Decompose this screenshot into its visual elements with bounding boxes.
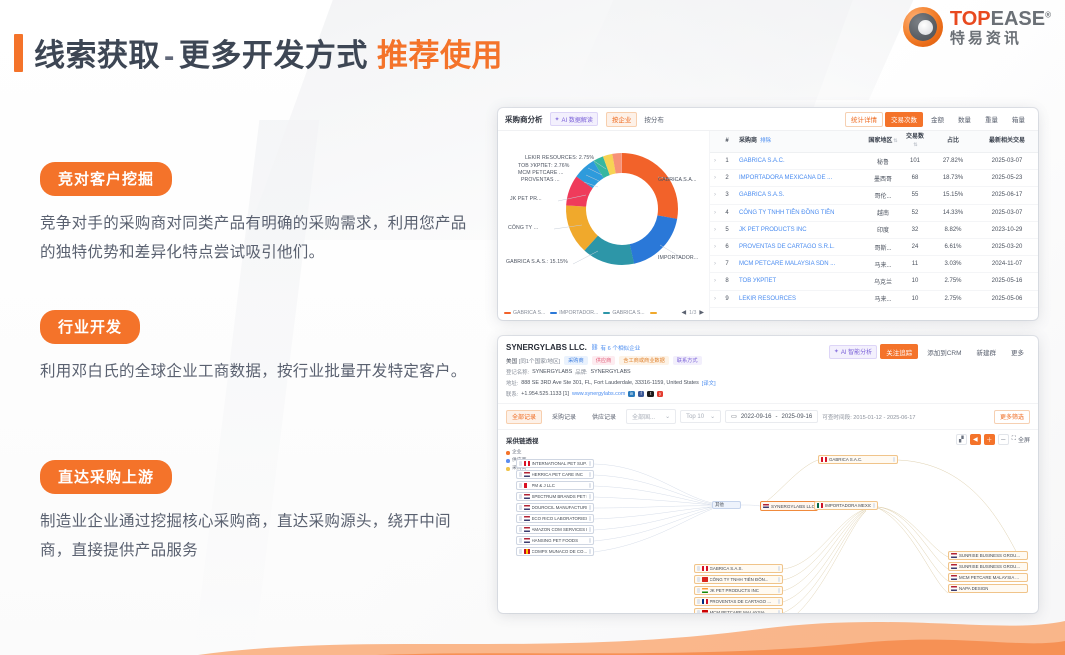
node-expand-handle[interactable] xyxy=(589,516,592,521)
link-chain-icon: ⛓ xyxy=(591,344,599,351)
graph-zoom-out-icon[interactable]: － xyxy=(998,434,1009,445)
graph-node-supplier[interactable]: AMAZON COM SERVICES L... xyxy=(516,525,594,534)
brand-label: 品牌: xyxy=(575,368,587,376)
cell-country: 墨西哥 xyxy=(866,170,900,187)
cell-latest-deal: 2024-11-07 xyxy=(976,256,1038,273)
graph-node-buyer-mid[interactable]: IMPORTADORA MEXICANA ... xyxy=(814,501,878,510)
cell-deals: 101 xyxy=(900,153,930,170)
facebook-icon[interactable]: f xyxy=(638,391,645,398)
graph-node-label: SUNRISE BUSINESS GROU... xyxy=(959,564,1020,569)
feature-block-competitor: 竞对客户挖掘 竞争对手的采购商对同类产品有明确的采购需求，利用您产品的独特优势和… xyxy=(40,162,480,267)
th-index: # xyxy=(720,131,734,153)
chip-business-data[interactable]: 含工商或商业数据 xyxy=(619,356,669,365)
table-row[interactable]: ›8TOB УКРПЕТ乌克兰102.75%2025-05-16 xyxy=(710,273,1038,290)
country-filter-value: 全部国... xyxy=(632,412,655,421)
legend-swatch xyxy=(550,312,557,314)
flag-icon xyxy=(951,586,957,591)
graph-node-label: SUNRISE BUSINESS GROU... xyxy=(959,553,1020,558)
flag-icon xyxy=(821,457,827,462)
graph-fullscreen-button[interactable]: ⛶ 全屏 xyxy=(1012,435,1030,444)
node-collapse-handle[interactable] xyxy=(519,505,522,510)
calendar-icon: ▭ xyxy=(731,413,737,420)
country-note: [同1个国家/地区] xyxy=(519,359,560,365)
node-collapse-handle[interactable] xyxy=(697,599,700,604)
topn-filter-value: Top 10 xyxy=(686,414,704,420)
feature-pill: 直达采购上游 xyxy=(40,460,172,494)
node-expand-handle[interactable] xyxy=(778,599,781,604)
purchaser-table-panel: # 采购商排除 国家地区⇅ 交易数⇅ 占比 最新相关交易 xyxy=(710,131,1038,320)
cell-deals: 68 xyxy=(900,170,930,187)
graph-node-other[interactable]: 其他 xyxy=(712,501,741,509)
page-title: 线索获取-更多开发方式 推荐使用 xyxy=(14,30,503,75)
cell-index: 4 xyxy=(720,204,734,221)
graph-node-label: INTERNATIONAL PET SUP... xyxy=(532,461,587,466)
graph-node-label: CÔNG TY TNHH TIÊN ĐỒN... xyxy=(710,577,769,582)
node-expand-handle[interactable] xyxy=(589,527,592,532)
supply-chain-graph-header: 采供链透视 ▞ ◀ ＋ － ⛶ 全屏 xyxy=(498,430,1038,445)
purchaser-analysis-toolbar: 采购商分析 ✦ AI 数据解读 按企业 按分布 统计详情 交易次数 金额 数量 … xyxy=(498,108,1038,131)
cell-deals: 55 xyxy=(900,187,930,204)
table-row[interactable]: ›3GABRICA S.A.S.哥伦...5515.15%2025-06-17 xyxy=(710,187,1038,204)
graph-node-label: HANSING PET FOODS xyxy=(532,538,579,543)
graph-node-label: PROVENTAS DE CARTAGO ... xyxy=(710,599,771,604)
youtube-icon[interactable]: y xyxy=(657,391,664,398)
node-collapse-handle[interactable] xyxy=(519,516,522,521)
legend-item[interactable] xyxy=(650,312,657,314)
graph-title: 采供链透视 xyxy=(506,435,539,445)
th-purchaser-label: 采购商 xyxy=(739,138,757,144)
cell-latest-deal: 2025-03-20 xyxy=(976,238,1038,255)
graph-node-label: SPECTRUM BRANDS PET L... xyxy=(532,494,587,499)
metric-amount-button[interactable]: 金额 xyxy=(925,112,950,127)
graph-prev-icon[interactable]: ◀ xyxy=(970,434,981,445)
legend-item[interactable]: IMPORTADOR... xyxy=(550,310,598,316)
graph-node-label: IMPORTADORA MEXICANA ... xyxy=(825,503,871,508)
legend-label: GABRICA S... xyxy=(612,310,644,316)
flag-icon xyxy=(702,577,708,582)
add-to-crm-button[interactable]: 添加到CRM xyxy=(921,344,967,359)
flag-icon xyxy=(763,504,769,509)
table-row[interactable]: ›5JK PET PRODUCTS INC印度328.82%2023-10-29 xyxy=(710,221,1038,238)
cell-share: 2.75% xyxy=(930,290,976,307)
metric-deal-count-button[interactable]: 交易次数 xyxy=(885,112,923,127)
cell-purchaser-name[interactable]: PROVENTAS DE CARTAGO S.R.L. xyxy=(734,238,866,255)
node-expand-handle[interactable] xyxy=(589,538,592,543)
feature-body: 制造业企业通过挖掘核心采购商，直达采购源头，绕开中间商，直接提供产品服务 xyxy=(40,508,480,565)
node-collapse-handle[interactable] xyxy=(519,527,522,532)
phone-value: +1.954.525.1133 [1] xyxy=(521,391,569,397)
flag-icon xyxy=(702,610,708,613)
more-filters-button[interactable]: 更多筛选 xyxy=(994,410,1030,424)
purchaser-analysis-title: 采购商分析 xyxy=(505,114,543,125)
legend-next-icon[interactable]: ▶ xyxy=(699,309,704,316)
flag-icon xyxy=(524,538,530,543)
graph-node-label: NAPA DESIGN xyxy=(959,586,988,591)
country-filter-select[interactable]: 全部国... ⌄ xyxy=(626,409,676,424)
cell-share: 8.82% xyxy=(930,221,976,238)
cell-latest-deal: 2025-05-06 xyxy=(976,290,1038,307)
cell-deals: 10 xyxy=(900,273,930,290)
legend-item[interactable]: GABRICA S... xyxy=(603,310,644,316)
company-header: SYNERGYLABS LLC. ⛓ 有 6 个相似企业 美国 [同1个国家/地… xyxy=(498,336,1038,404)
cell-latest-deal: 2025-03-07 xyxy=(976,153,1038,170)
graph-node-related[interactable]: SUNRISE BUSINESS GROU... xyxy=(948,562,1028,571)
sort-icon[interactable]: ⇅ xyxy=(913,142,917,148)
country-name: 美国 xyxy=(506,359,517,365)
table-row[interactable]: ›6PROVENTAS DE CARTAGO S.R.L.哥斯...246.61… xyxy=(710,238,1038,255)
registered-name-label: 登记名称: xyxy=(506,368,529,376)
node-collapse-handle[interactable] xyxy=(697,566,700,571)
row-expand-icon[interactable]: › xyxy=(710,238,720,255)
flag-icon xyxy=(524,483,530,488)
graph-node-buyer[interactable]: MCM PETCARE MALAYSIA ... xyxy=(694,608,783,613)
cell-latest-deal: 2025-06-17 xyxy=(976,187,1038,204)
brand-value: SYNERGYLABS xyxy=(591,369,631,375)
cell-share: 14.33% xyxy=(930,204,976,221)
title-main: 线索获取 xyxy=(34,38,160,73)
graph-node-label: GABRICA S.A.C. xyxy=(829,457,862,462)
topease-logo: TOPEASE® 特易资讯 xyxy=(903,7,1051,47)
node-expand-handle[interactable] xyxy=(589,494,592,499)
flag-icon xyxy=(524,472,530,477)
metric-weight-button[interactable]: 重量 xyxy=(979,112,1004,127)
graph-chart-icon[interactable]: ▞ xyxy=(956,434,967,445)
table-row[interactable]: ›2IMPORTADORA MEXICANA DE ...墨西哥6818.73%… xyxy=(710,170,1038,187)
translate-link[interactable]: [译文] xyxy=(702,379,716,387)
chip-purchaser[interactable]: 采购商 xyxy=(564,356,588,365)
registered-name-value: SYNERGYLABS xyxy=(532,369,572,375)
logo-mark-icon xyxy=(903,7,943,47)
new-group-button[interactable]: 新建群 xyxy=(971,344,1003,359)
cell-country: 马来... xyxy=(866,256,900,273)
view-mode-tabs: 按企业 按分布 xyxy=(606,112,670,127)
cell-deals: 10 xyxy=(900,290,930,307)
th-purchaser: 采购商排除 xyxy=(734,131,866,153)
flag-icon xyxy=(702,588,708,593)
date-end: 2025-09-16 xyxy=(782,414,813,420)
graph-node-label: SYNERGYLABS LLC. xyxy=(771,504,815,509)
graph-node-supplier[interactable]: HANSING PET FOODS xyxy=(516,536,594,545)
linkedin-icon[interactable]: in xyxy=(628,391,635,398)
graph-node-supplier[interactable]: DOUROCIL MANUFACTURING... xyxy=(516,503,594,512)
legend-page-indicator: 1/3 xyxy=(689,310,696,316)
node-collapse-handle[interactable] xyxy=(519,461,522,466)
feature-pill: 行业开发 xyxy=(40,310,140,344)
cell-purchaser-name[interactable]: MCM PETCARE MALAYSIA SDN ... xyxy=(734,256,866,273)
graph-node-label: HERRICA PET CARE INC xyxy=(532,472,583,477)
legend-label: GABRICA S... xyxy=(513,310,545,316)
flag-icon xyxy=(817,503,823,508)
node-collapse-handle[interactable] xyxy=(697,577,700,582)
graph-node-label: MCM PETCARE MALAYSIA ... xyxy=(710,610,770,613)
follow-track-button[interactable]: 关注追踪 xyxy=(880,344,918,359)
legend-label: IMPORTADOR... xyxy=(559,310,598,316)
graph-node-supplier[interactable]: ECO RICO LABORATORIES... xyxy=(516,514,594,523)
graph-node-label: JK PET PRODUCTS INC xyxy=(710,588,759,593)
chip-contact[interactable]: 联系方式 xyxy=(673,356,702,365)
fullscreen-label: 全屏 xyxy=(1018,435,1030,444)
filter-tab-all-records[interactable]: 全部记录 xyxy=(506,410,542,424)
cell-index: 3 xyxy=(720,187,734,204)
graph-node-center-company[interactable]: SYNERGYLABS LLC. xyxy=(760,501,818,511)
graph-node-supplier[interactable]: HERRICA PET CARE INC xyxy=(516,470,594,479)
node-expand-handle[interactable] xyxy=(589,549,592,554)
cell-latest-deal: 2023-10-29 xyxy=(976,221,1038,238)
cell-share: 18.73% xyxy=(930,170,976,187)
ai-analysis-label: AI 智能分析 xyxy=(841,347,872,356)
th-deals-label: 交易数 xyxy=(906,134,924,140)
node-collapse-handle[interactable] xyxy=(697,588,700,593)
cell-purchaser-name[interactable]: JK PET PRODUCTS INC xyxy=(734,221,866,238)
stats-detail-button[interactable]: 统计详情 xyxy=(845,112,883,127)
fullscreen-icon: ⛶ xyxy=(1012,436,1016,443)
company-country: 美国 [同1个国家/地区] xyxy=(506,357,560,365)
cell-country: 哥斯... xyxy=(866,238,900,255)
cell-deals: 52 xyxy=(900,204,930,221)
cell-country: 越南 xyxy=(866,204,900,221)
feature-pill: 竞对客户挖掘 xyxy=(40,162,172,196)
ai-data-insight-button[interactable]: ✦ AI 数据解读 xyxy=(550,112,598,126)
feature-body: 竞争对手的采购商对同类产品有明确的采购需求，利用您产品的独特优势和差异化特点尝试… xyxy=(40,210,480,267)
tab-by-company[interactable]: 按企业 xyxy=(606,112,638,127)
flag-icon xyxy=(951,564,957,569)
graph-node-buyer[interactable]: JK PET PRODUCTS INC xyxy=(694,586,783,595)
graph-node-label: COMPX MUNACO DE CO... xyxy=(532,549,587,554)
node-collapse-handle[interactable] xyxy=(519,494,522,499)
flag-icon xyxy=(951,553,957,558)
cell-index: 2 xyxy=(720,170,734,187)
graph-node-buyer[interactable]: CÔNG TY TNHH TIÊN ĐỒN... xyxy=(694,575,783,584)
th-country-label: 国家地区 xyxy=(868,138,892,144)
cell-purchaser-name[interactable]: IMPORTADORA MEXICANA DE ... xyxy=(734,170,866,187)
cell-share: 27.82% xyxy=(930,153,976,170)
logo-chinese: 特易资讯 xyxy=(950,31,1051,46)
sparkle-icon: ✦ xyxy=(555,116,560,123)
th-expand xyxy=(710,131,720,153)
supply-chain-graph[interactable]: 企业 供应商 采购商 xyxy=(498,447,1038,613)
topn-filter-select[interactable]: Top 10 ⌄ xyxy=(680,410,721,423)
company-name: SYNERGYLABS LLC. xyxy=(506,343,587,352)
cell-purchaser-name[interactable]: GABRICA S.A.S. xyxy=(734,187,866,204)
chevron-down-icon: ⌄ xyxy=(710,413,715,420)
cell-country: 乌克兰 xyxy=(866,273,900,290)
graph-node-label: MCM PETCARE MALAYSIA ... xyxy=(959,575,1019,580)
cell-latest-deal: 2025-05-16 xyxy=(976,273,1038,290)
cell-share: 3.03% xyxy=(930,256,976,273)
graph-node-label: 其他 xyxy=(715,502,724,508)
similar-companies-label: 有 6 个相似企业 xyxy=(601,344,641,352)
filter-tab-supply-records[interactable]: 供应记录 xyxy=(586,410,622,424)
th-country: 国家地区⇅ xyxy=(866,131,900,153)
chart-legend: GABRICA S... IMPORTADOR... GABRICA S... xyxy=(498,309,710,316)
th-share: 占比 xyxy=(930,131,976,153)
metric-quantity-button[interactable]: 数量 xyxy=(952,112,977,127)
chevron-down-icon: ⌄ xyxy=(665,413,670,420)
record-filter-bar: 全部记录 采购记录 供应记录 全部国... ⌄ Top 10 ⌄ ▭ 2022-… xyxy=(498,404,1038,430)
ai-analysis-button[interactable]: ✦ AI 智能分析 xyxy=(829,345,877,359)
cell-country: 印度 xyxy=(866,221,900,238)
node-collapse-handle[interactable] xyxy=(519,549,522,554)
graph-node-label: DOUROCIL MANUFACTURING... xyxy=(532,505,587,510)
graph-node-supplier[interactable]: PM & J LLC xyxy=(516,481,594,490)
node-expand-handle[interactable] xyxy=(778,588,781,593)
logo-top: TOP xyxy=(950,8,991,30)
title-accent-bar xyxy=(14,34,23,72)
address-label: 地址: xyxy=(506,379,518,387)
flag-icon xyxy=(702,599,708,604)
row-expand-icon[interactable]: › xyxy=(710,273,720,290)
address-value: 888 SE 3RD Ave Ste 301, FL, Fort Lauderd… xyxy=(521,380,699,386)
cell-deals: 24 xyxy=(900,238,930,255)
cell-country: 秘鲁 xyxy=(866,153,900,170)
graph-node-label: PM & J LLC xyxy=(532,483,555,488)
cell-share: 2.75% xyxy=(930,273,976,290)
table-row[interactable]: ›7MCM PETCARE MALAYSIA SDN ...马来...113.0… xyxy=(710,256,1038,273)
title-dash: - xyxy=(164,38,175,73)
node-expand-handle[interactable] xyxy=(589,472,592,477)
title-sub: 更多开发方式 xyxy=(179,38,368,73)
metric-button-group: 统计详情 交易次数 金额 数量 重量 箱量 xyxy=(845,112,1031,127)
company-action-buttons: ✦ AI 智能分析 关注追踪 添加到CRM 新建群 更多 xyxy=(829,344,1030,359)
flag-icon xyxy=(702,566,708,571)
flag-icon xyxy=(524,527,530,532)
node-expand-handle[interactable] xyxy=(589,483,592,488)
date-range-picker[interactable]: ▭ 2022-09-16 - 2025-09-16 xyxy=(725,410,818,423)
legend-item[interactable]: GABRICA S... xyxy=(504,310,545,316)
row-expand-icon[interactable]: › xyxy=(710,170,720,187)
cell-purchaser-name[interactable]: CÔNG TY TNHH TIÊN ĐỒNG TIÊN xyxy=(734,204,866,221)
node-expand-handle[interactable] xyxy=(778,610,781,613)
node-collapse-handle[interactable] xyxy=(519,538,522,543)
feature-block-upstream: 直达采购上游 制造业企业通过挖掘核心采购商，直达采购源头，绕开中间商，直接提供产… xyxy=(40,460,480,565)
cell-latest-deal: 2025-05-23 xyxy=(976,170,1038,187)
logo-ease: EASE xyxy=(991,8,1045,30)
similar-companies-link[interactable]: ⛓ 有 6 个相似企业 xyxy=(591,344,640,352)
table-row[interactable]: ›4CÔNG TY TNHH TIÊN ĐỒNG TIÊN越南5214.33%2… xyxy=(710,204,1038,221)
cell-index: 6 xyxy=(720,238,734,255)
node-expand-handle[interactable] xyxy=(893,457,896,462)
cell-country: 哥伦... xyxy=(866,187,900,204)
feature-block-industry: 行业开发 利用邓白氏的全球企业工商数据，按行业批量开发特定客户。 xyxy=(40,310,480,387)
donut-chart-panel: LEKIR RESOURCES: 2.75% TOB УКРПЕТ: 2.76%… xyxy=(498,131,710,320)
th-deals: 交易数⇅ xyxy=(900,131,930,153)
cell-share: 15.15% xyxy=(930,187,976,204)
twitter-icon[interactable]: t xyxy=(647,391,654,398)
cell-index: 1 xyxy=(720,153,734,170)
contact-label: 联系: xyxy=(506,390,518,398)
purchaser-analysis-card: 采购商分析 ✦ AI 数据解读 按企业 按分布 统计详情 交易次数 金额 数量 … xyxy=(498,108,1038,320)
cell-index: 8 xyxy=(720,273,734,290)
node-expand-handle[interactable] xyxy=(589,505,592,510)
company-detail-card: SYNERGYLABS LLC. ⛓ 有 6 个相似企业 美国 [同1个国家/地… xyxy=(498,336,1038,613)
node-collapse-handle[interactable] xyxy=(697,610,700,613)
flag-icon xyxy=(524,505,530,510)
row-expand-icon[interactable]: › xyxy=(710,187,720,204)
cell-purchaser-name[interactable]: TOB УКРПЕТ xyxy=(734,273,866,290)
flag-icon xyxy=(951,575,957,580)
graph-node-supplier[interactable]: COMPX MUNACO DE CO... xyxy=(516,547,594,556)
tab-by-distribution[interactable]: 按分布 xyxy=(638,112,670,127)
cell-share: 6.61% xyxy=(930,238,976,255)
table-header-row: # 采购商排除 国家地区⇅ 交易数⇅ 占比 最新相关交易 xyxy=(710,131,1038,153)
chip-supplier[interactable]: 供应商 xyxy=(592,356,616,365)
date-range-hint: 可查时间段: 2015-01-12 - 2025-06-17 xyxy=(822,413,915,421)
table-row[interactable]: ›1GABRICA S.A.C.秘鲁10127.82%2025-03-07 xyxy=(710,153,1038,170)
legend-pagination: ◀ 1/3 ▶ xyxy=(682,309,704,316)
donut-svg xyxy=(498,133,710,291)
cell-index: 7 xyxy=(720,256,734,273)
graph-node-label: ECO RICO LABORATORIES... xyxy=(532,516,587,521)
graph-node-related[interactable]: MCM PETCARE MALAYSIA ... xyxy=(948,573,1028,582)
node-expand-handle[interactable] xyxy=(873,503,876,508)
graph-node-supplier[interactable]: INTERNATIONAL PET SUP... xyxy=(516,459,594,468)
graph-node-related[interactable]: SUNRISE BUSINESS GROU... xyxy=(948,551,1028,560)
node-collapse-handle[interactable] xyxy=(519,472,522,477)
row-expand-icon[interactable]: › xyxy=(710,153,720,170)
row-expand-icon[interactable]: › xyxy=(710,204,720,221)
sort-icon[interactable]: ⇅ xyxy=(893,138,897,144)
cell-latest-deal: 2025-03-07 xyxy=(976,204,1038,221)
node-expand-handle[interactable] xyxy=(589,461,592,466)
website-link[interactable]: www.synergylabs.com xyxy=(572,391,625,397)
table-row[interactable]: ›9LEKIR RESOURCES马来...102.75%2025-05-06 xyxy=(710,290,1038,307)
cell-purchaser-name[interactable]: LEKIR RESOURCES xyxy=(734,290,866,307)
th-latest: 最新相关交易 xyxy=(976,131,1038,153)
flag-icon xyxy=(524,461,530,466)
node-collapse-handle[interactable] xyxy=(519,483,522,488)
metric-container-button[interactable]: 箱量 xyxy=(1006,112,1031,127)
donut-chart[interactable]: LEKIR RESOURCES: 2.75% TOB УКРПЕТ: 2.76%… xyxy=(498,133,710,291)
graph-node-supplier[interactable]: SPECTRUM BRANDS PET L... xyxy=(516,492,594,501)
cell-purchaser-name[interactable]: GABRICA S.A.C. xyxy=(734,153,866,170)
logo-registered: ® xyxy=(1045,10,1051,19)
graph-node-buyer[interactable]: GABRICA S.A.S. xyxy=(694,564,783,573)
cell-deals: 11 xyxy=(900,256,930,273)
purchaser-table: # 采购商排除 国家地区⇅ 交易数⇅ 占比 最新相关交易 xyxy=(710,131,1038,308)
graph-node-buyer[interactable]: PROVENTAS DE CARTAGO ... xyxy=(694,597,783,606)
row-expand-icon[interactable]: › xyxy=(710,290,720,307)
cell-deals: 32 xyxy=(900,221,930,238)
more-button[interactable]: 更多 xyxy=(1005,344,1030,359)
graph-node-label: GABRICA S.A.S. xyxy=(710,566,743,571)
graph-node-buyer-top[interactable]: GABRICA S.A.C. xyxy=(818,455,898,464)
flag-icon xyxy=(524,494,530,499)
row-expand-icon[interactable]: › xyxy=(710,221,720,238)
cell-index: 5 xyxy=(720,221,734,238)
legend-swatch xyxy=(650,312,657,314)
flag-icon xyxy=(524,516,530,521)
legend-prev-icon[interactable]: ◀ xyxy=(682,309,687,316)
ai-data-insight-label: AI 数据解读 xyxy=(562,115,593,124)
legend-swatch xyxy=(603,312,610,314)
graph-node-related[interactable]: NAPA DESIGN xyxy=(948,584,1028,593)
graph-node-label: AMAZON COM SERVICES L... xyxy=(532,527,587,532)
node-expand-handle[interactable] xyxy=(778,577,781,582)
title-accent: 推荐使用 xyxy=(377,38,503,73)
filter-tab-purchase-records[interactable]: 采购记录 xyxy=(546,410,582,424)
legend-swatch xyxy=(504,312,511,314)
cell-country: 马来... xyxy=(866,290,900,307)
exclude-link[interactable]: 排除 xyxy=(760,138,771,144)
node-expand-handle[interactable] xyxy=(778,566,781,571)
sparkle-icon: ✦ xyxy=(834,348,839,355)
flag-icon xyxy=(524,549,530,554)
row-expand-icon[interactable]: › xyxy=(710,256,720,273)
slide-root: 线索获取-更多开发方式 推荐使用 TOPEASE® 特易资讯 竞对客户挖掘 竞争… xyxy=(0,0,1065,655)
graph-zoom-in-icon[interactable]: ＋ xyxy=(984,434,995,445)
date-start: 2022-09-16 xyxy=(741,414,772,420)
background-pane xyxy=(569,0,931,100)
